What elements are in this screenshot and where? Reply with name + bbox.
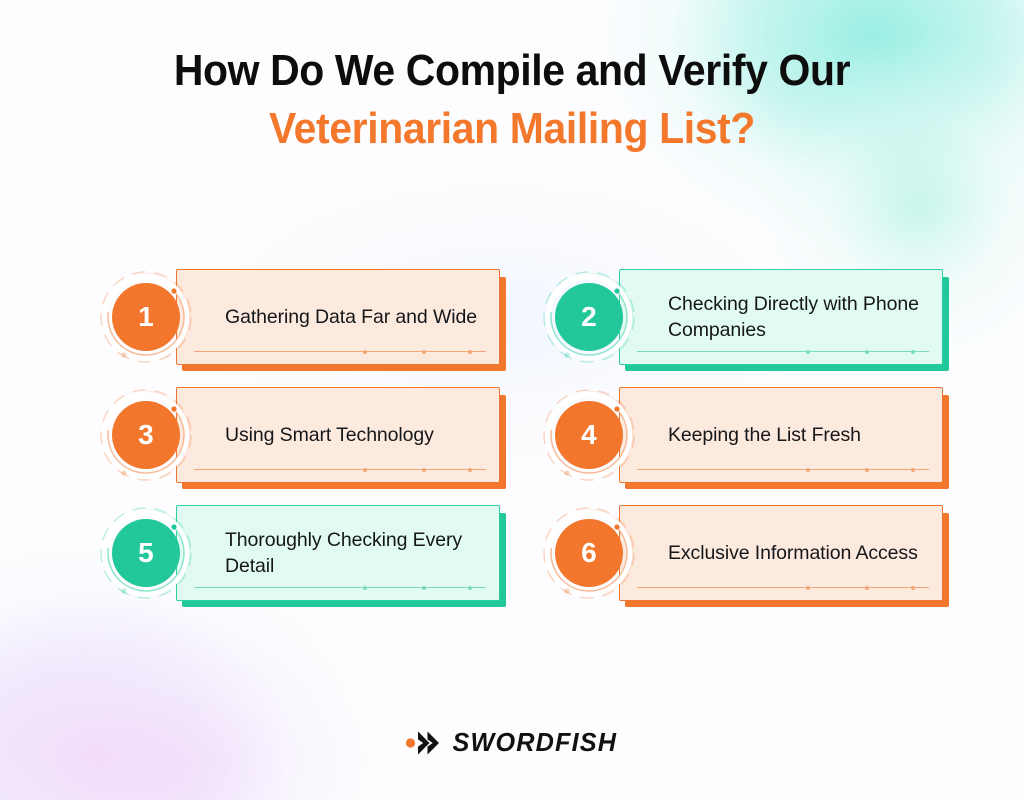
rule-dot [806,468,810,472]
rule-dot [422,586,426,590]
step-number: 2 [541,269,637,365]
rule-dot [363,586,367,590]
step-card[interactable]: Thoroughly Checking Every Detail5 [98,505,500,601]
brand-name: SWORDFISH [452,727,617,758]
steps-grid: Gathering Data Far and Wide1Checking Dir… [98,258,943,612]
rule-line [637,351,929,352]
infographic-canvas: How Do We Compile and Verify Our Veterin… [0,0,1024,800]
step-card-title: Keeping the List Fresh [620,422,879,448]
rule-line [194,587,486,588]
swordfish-arrow-icon [405,730,439,756]
step-number-badge: 2 [541,269,637,365]
step-card-title: Checking Directly with Phone Companies [620,291,942,343]
step-card[interactable]: Keeping the List Fresh4 [541,387,943,483]
step-card-title: Using Smart Technology [177,422,452,448]
step-card-title: Gathering Data Far and Wide [177,304,495,330]
step-number: 4 [541,387,637,483]
step-number-badge: 5 [98,505,194,601]
step-card-decorative-rule [637,469,929,470]
rule-dot [363,468,367,472]
background-glow-lilac-secondary [0,620,380,800]
step-card[interactable]: Checking Directly with Phone Companies2 [541,269,943,365]
step-number: 1 [98,269,194,365]
rule-dot [865,468,869,472]
step-card-decorative-rule [194,587,486,588]
step-card-title: Exclusive Information Access [620,540,936,566]
step-number: 3 [98,387,194,483]
step-card-decorative-rule [194,469,486,470]
step-number-badge: 1 [98,269,194,365]
rule-dot [422,468,426,472]
rule-line [637,469,929,470]
step-number-badge: 3 [98,387,194,483]
step-number: 6 [541,505,637,601]
step-card-title: Thoroughly Checking Every Detail [177,527,499,579]
step-number: 5 [98,505,194,601]
brand-logo: SWORDFISH [0,727,1024,758]
rule-dot [865,586,869,590]
rule-dot [806,350,810,354]
step-card-decorative-rule [194,351,486,352]
step-number-badge: 4 [541,387,637,483]
rule-dot [363,350,367,354]
logo-dot [406,738,415,747]
rule-dot [806,586,810,590]
step-number-badge: 6 [541,505,637,601]
step-card-decorative-rule [637,587,929,588]
rule-dot [422,350,426,354]
page-title-line-2: Veterinarian Mailing List? [36,100,988,158]
rule-line [194,351,486,352]
step-card[interactable]: Using Smart Technology3 [98,387,500,483]
rule-line [637,587,929,588]
rule-dot [865,350,869,354]
page-title-line-1: How Do We Compile and Verify Our [36,42,988,100]
step-card[interactable]: Gathering Data Far and Wide1 [98,269,500,365]
step-card[interactable]: Exclusive Information Access6 [541,505,943,601]
page-title: How Do We Compile and Verify Our Veterin… [0,42,1024,158]
step-card-decorative-rule [637,351,929,352]
rule-line [194,469,486,470]
